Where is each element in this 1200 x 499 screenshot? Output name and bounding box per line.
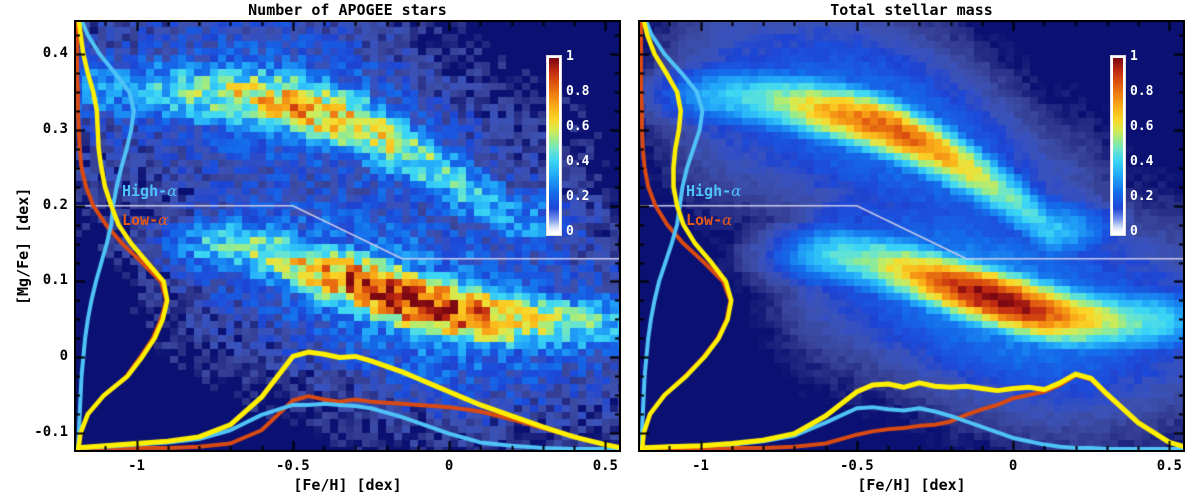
legend-high-alpha-label-right: High- bbox=[686, 182, 731, 200]
density-plot-left[interactable] bbox=[74, 20, 621, 452]
density-heatmap-right bbox=[638, 20, 1185, 452]
y-tick-label: 0 bbox=[18, 348, 68, 364]
colorbar-tick-label: 0.2 bbox=[1130, 189, 1153, 204]
x-tick-label: -1 bbox=[107, 458, 167, 474]
x-axis-label-right: [Fe/H] [dex] bbox=[638, 476, 1185, 494]
alpha-symbol-icon: α bbox=[731, 182, 741, 200]
y-tick-label: 0.2 bbox=[18, 197, 68, 213]
x-axis-label-left: [Fe/H] [dex] bbox=[74, 476, 621, 494]
colorbar-tick-label: 1 bbox=[566, 49, 574, 64]
colorbar-tick-label: 0.4 bbox=[1130, 154, 1153, 169]
panel-title-left: Number of APOGEE stars bbox=[74, 1, 621, 19]
legend-low-alpha-left: Low-α bbox=[122, 211, 168, 229]
colorbar-tick-label: 0.6 bbox=[566, 119, 589, 134]
colorbar-tick-label: 0.8 bbox=[1130, 84, 1153, 99]
figure-root: Number of APOGEE stars High-α Low-α Tota… bbox=[0, 0, 1200, 499]
alpha-symbol-icon: α bbox=[158, 211, 168, 229]
x-tick-label: -1 bbox=[671, 458, 731, 474]
x-tick-label: 0.5 bbox=[575, 458, 635, 474]
density-plot-right[interactable] bbox=[638, 20, 1185, 452]
x-tick-label: 0 bbox=[983, 458, 1043, 474]
legend-high-alpha-right: High-α bbox=[686, 182, 741, 200]
colorbar-left bbox=[546, 55, 562, 236]
x-tick-label: 0.5 bbox=[1139, 458, 1199, 474]
y-tick-label: 0.1 bbox=[18, 272, 68, 288]
y-tick-label: -0.1 bbox=[18, 424, 68, 440]
legend-high-alpha-left: High-α bbox=[122, 182, 177, 200]
colorbar-tick-label: 1 bbox=[1130, 49, 1138, 64]
alpha-symbol-icon: α bbox=[167, 182, 177, 200]
density-heatmap-left bbox=[74, 20, 621, 452]
panel-title-right: Total stellar mass bbox=[638, 1, 1185, 19]
colorbar-tick-label: 0.4 bbox=[566, 154, 589, 169]
y-tick-label: 0.4 bbox=[18, 45, 68, 61]
y-tick-label: 0.3 bbox=[18, 121, 68, 137]
colorbar-tick-label: 0.6 bbox=[1130, 119, 1153, 134]
legend-low-alpha-label-right: Low- bbox=[686, 211, 722, 229]
colorbar-tick-label: 0 bbox=[1130, 224, 1138, 239]
alpha-symbol-icon: α bbox=[722, 211, 732, 229]
legend-high-alpha-label-left: High- bbox=[122, 182, 167, 200]
colorbar-tick-label: 0.2 bbox=[566, 189, 589, 204]
legend-low-alpha-label-left: Low- bbox=[122, 211, 158, 229]
colorbar-tick-label: 0 bbox=[566, 224, 574, 239]
legend-low-alpha-right: Low-α bbox=[686, 211, 732, 229]
x-tick-label: -0.5 bbox=[263, 458, 323, 474]
colorbar-tick-label: 0.8 bbox=[566, 84, 589, 99]
x-tick-label: -0.5 bbox=[827, 458, 887, 474]
colorbar-right bbox=[1110, 55, 1126, 236]
x-tick-label: 0 bbox=[419, 458, 479, 474]
